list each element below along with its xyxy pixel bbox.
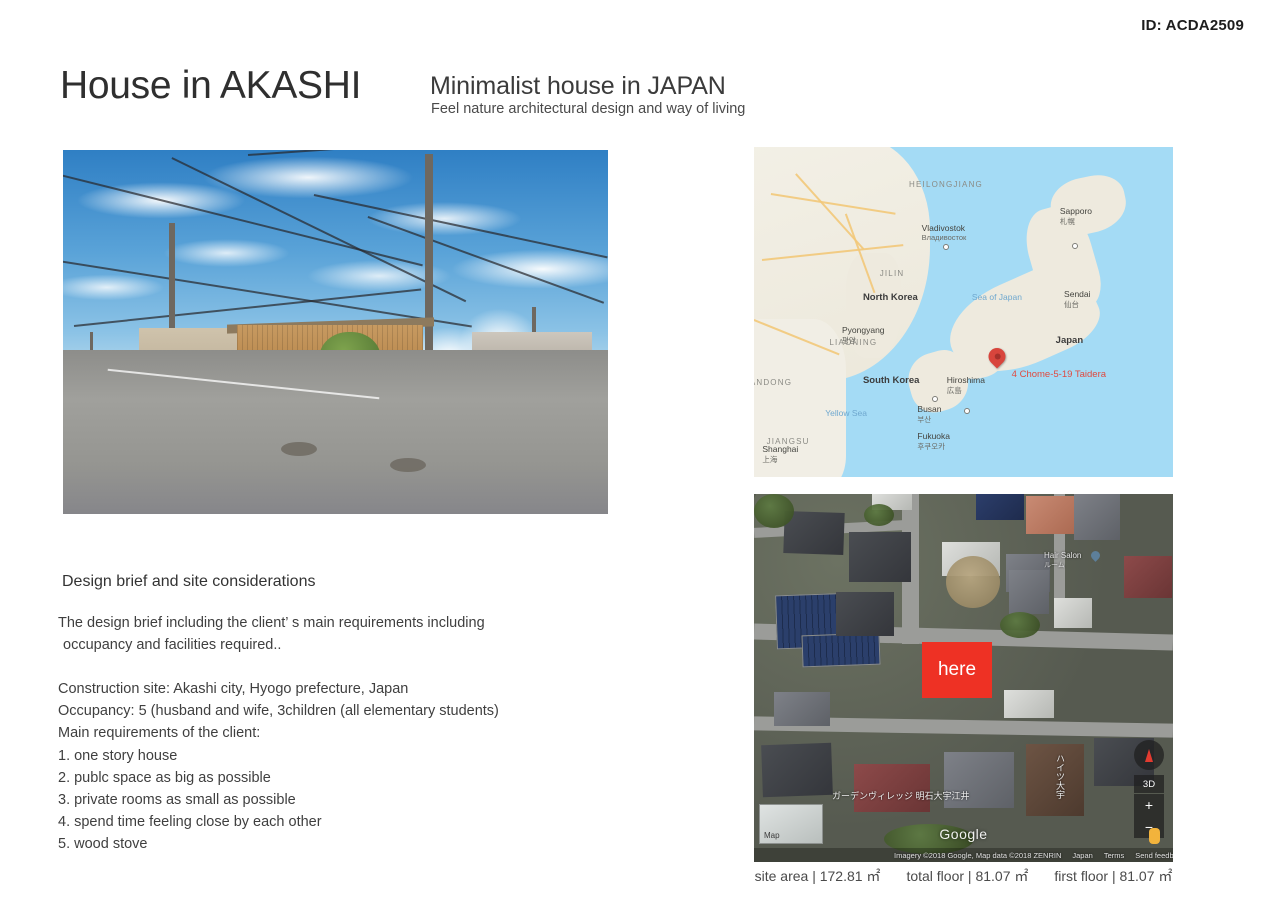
- photo-manhole: [281, 442, 317, 456]
- map-type-toggle-button[interactable]: Map: [759, 804, 823, 844]
- fact-construction-site: Construction site: Akashi city, Hyogo pr…: [58, 678, 499, 700]
- fact-occupancy: Occupancy: 5 (husband and wife, 3childre…: [58, 700, 499, 722]
- sat-building-roof: [1054, 598, 1092, 628]
- sat-garden: [946, 556, 1000, 608]
- sat-building-roof: [849, 532, 911, 582]
- design-brief-heading: Design brief and site considerations: [62, 573, 315, 591]
- photo-manhole: [390, 458, 426, 472]
- sat-building-roof: [1074, 494, 1120, 540]
- locator-map[interactable]: HEILONGJIANG JILIN LIAONING ANDONG JIANG…: [754, 147, 1173, 477]
- sat-vegetation: [1000, 612, 1040, 638]
- google-watermark: Google: [939, 826, 987, 842]
- design-brief-intro: The design brief including the client’ s…: [58, 612, 485, 656]
- area-first-floor: first floor | 81.07 ㎡: [1054, 866, 1172, 886]
- fact-requirements-head: Main requirements of the client:: [58, 722, 499, 744]
- site-here-marker: here: [922, 642, 992, 698]
- sat-building-roof: [761, 743, 833, 797]
- map-label-fukuoka-en: Fukuoka: [917, 431, 950, 441]
- map-label-busan-kr: 부산: [917, 414, 941, 425]
- compass-needle: [1145, 749, 1153, 762]
- sat-poi-label: Hair Salon ルーム: [1044, 551, 1081, 570]
- page-title: House in AKASHI: [60, 64, 361, 108]
- map-attribution-bar: Imagery ©2018 Google, Map data ©2018 ZEN…: [754, 848, 1173, 862]
- map-toggle-label: Map: [764, 831, 780, 840]
- map-landmass-china-coast: [754, 319, 846, 477]
- intro-line-1: The design brief including the client’ s…: [58, 612, 485, 634]
- area-site: site area | 172.81 ㎡: [755, 866, 881, 886]
- sat-building-roof: [1124, 556, 1172, 598]
- sat-building-roof: [1004, 690, 1054, 718]
- here-label: here: [938, 659, 976, 681]
- sat-place-label-jp: ガーデンヴィレッジ 明石大宇江井: [832, 790, 970, 802]
- pegman-icon[interactable]: [1149, 828, 1160, 844]
- map-landmass-korea: [846, 253, 900, 359]
- sat-vegetation: [754, 494, 794, 528]
- attribution-imagery: Imagery ©2018 Google, Map data ©2018 ZEN…: [894, 851, 1061, 860]
- requirement-item-4: 4. spend time feeling close by each othe…: [58, 811, 499, 833]
- satellite-map[interactable]: here Hair Salon ルーム ガーデンヴィレッジ 明石大宇江井 ハイツ…: [754, 494, 1173, 862]
- sat-solar-roof: [976, 494, 1024, 520]
- sat-poi-name-jp: ルーム: [1044, 560, 1081, 570]
- zoom-in-button[interactable]: +: [1134, 794, 1164, 816]
- sat-poi-name: Hair Salon: [1044, 551, 1081, 560]
- sat-building-roof: [1009, 570, 1049, 614]
- document-id-label: ID: ACDA2509: [1141, 17, 1244, 34]
- attribution-feedback[interactable]: Send feedback: [1135, 851, 1173, 860]
- sat-vegetation: [864, 504, 894, 526]
- toggle-3d-button[interactable]: 3D: [1134, 775, 1164, 793]
- sat-building-roof: [836, 592, 894, 636]
- map-city-dot-hiroshima: [964, 408, 970, 414]
- sat-place-label-jp2: ハイツ大宇: [1054, 754, 1066, 799]
- requirement-item-3: 3. private rooms as small as possible: [58, 789, 499, 811]
- sat-building-roof: [854, 764, 930, 812]
- design-brief-facts: Construction site: Akashi city, Hyogo pr…: [58, 678, 499, 856]
- area-summary-caption: site area | 172.81 ㎡ total floor | 81.07…: [754, 866, 1173, 886]
- area-total-floor: total floor | 81.07 ㎡: [906, 866, 1028, 886]
- sat-building-roof: [783, 511, 844, 555]
- compass-icon[interactable]: [1134, 740, 1164, 770]
- requirement-item-2: 2. publc space as big as possible: [58, 767, 499, 789]
- map-pin-address-label: 4 Chome-5-19 Taidera: [1012, 369, 1106, 380]
- map-label-fukuoka-jp: 후쿠오카: [917, 441, 950, 452]
- page-subtitle: Minimalist house in JAPAN: [430, 72, 726, 101]
- map-label-fukuoka: Fukuoka 후쿠오카: [917, 431, 950, 452]
- map-city-dot-vladivostok: [943, 244, 949, 250]
- requirement-item-1: 1. one story house: [58, 745, 499, 767]
- photo-road: [63, 350, 608, 514]
- street-view-photo: [63, 150, 608, 514]
- sat-solar-panel-array: [801, 633, 880, 668]
- attribution-country: Japan: [1072, 851, 1092, 860]
- sat-building-roof: [774, 692, 830, 726]
- requirement-item-5: 5. wood stove: [58, 833, 499, 855]
- page-tagline: Feel nature architectural design and way…: [431, 101, 745, 117]
- intro-line-2: occupancy and facilities required..: [58, 634, 485, 656]
- attribution-terms[interactable]: Terms: [1104, 851, 1124, 860]
